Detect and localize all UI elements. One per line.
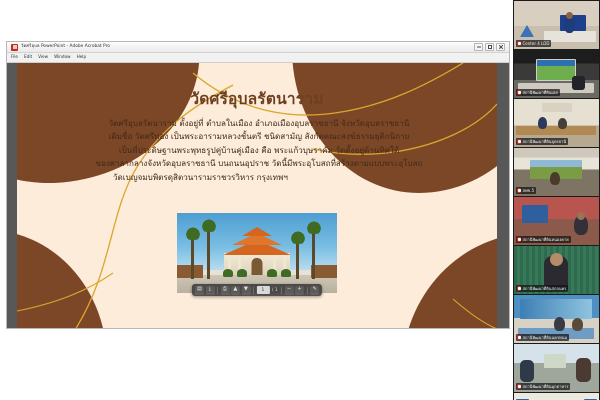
slide-title: วัดศรีอุบลรัตนาราม bbox=[17, 86, 497, 111]
slide-body-text: วัดศรีอุบลรัตนาราม ตั้งอยู่ที่ ตำบลในเมื… bbox=[51, 117, 467, 184]
photo-palm-left-2 bbox=[207, 227, 210, 279]
photo-palm-right bbox=[312, 229, 315, 279]
photo-shrub-1 bbox=[223, 269, 233, 277]
window-controls bbox=[474, 43, 507, 51]
mic-muted-icon bbox=[517, 237, 521, 242]
maximize-button[interactable] bbox=[485, 43, 494, 51]
print-icon[interactable]: ⎙ bbox=[220, 286, 229, 295]
photo-palm-right-2 bbox=[296, 239, 299, 279]
participant-tile[interactable]: สถานีพัฒนาที่ดินเลย bbox=[514, 50, 599, 98]
participant-name-label: Center 4 LDD bbox=[516, 40, 551, 47]
photo-temple-structure bbox=[220, 227, 294, 275]
participant-name-label: สถานีพัฒนาที่ดินสกลนคร bbox=[516, 285, 568, 292]
mic-muted-icon bbox=[517, 90, 521, 95]
mic-muted-icon bbox=[517, 286, 521, 291]
mic-muted-icon bbox=[517, 188, 521, 193]
page-total-label: / 1 bbox=[271, 288, 279, 293]
mic-muted-icon bbox=[517, 41, 521, 46]
minimize-button[interactable] bbox=[474, 43, 483, 51]
highlight-icon[interactable]: ✎ bbox=[310, 286, 319, 295]
menu-bar: File Edit View Window Help bbox=[7, 53, 509, 63]
participant-tile[interactable]: สพข.5 bbox=[514, 148, 599, 196]
slide-line-5: วัดเบญจมบพิตรดุสิตวนารามราชวรวิหาร กรุงเ… bbox=[51, 171, 467, 184]
participant-tile[interactable]: Center 4 LDD bbox=[514, 1, 599, 49]
zoom-in-icon[interactable]: + bbox=[295, 286, 304, 295]
slide-line-1: วัดศรีอุบลรัตนาราม ตั้งอยู่ที่ ตำบลในเมื… bbox=[51, 117, 467, 130]
participant-sidebar[interactable]: Center 4 LDD สถานีพัฒนาที่ดินเลย สถานีพั… bbox=[513, 0, 600, 400]
acrobat-icon bbox=[11, 44, 18, 51]
menu-item-edit[interactable]: Edit bbox=[24, 55, 32, 59]
window-title: วัดศรีอุบล PowerPoint - Adobe Acrobat Pr… bbox=[21, 45, 110, 49]
mic-muted-icon bbox=[517, 139, 521, 144]
photo-shrub-2 bbox=[237, 269, 247, 277]
window-titlebar[interactable]: วัดศรีอุบล PowerPoint - Adobe Acrobat Pr… bbox=[7, 42, 509, 53]
sidebar-toggle-icon[interactable]: ▤ bbox=[195, 286, 204, 295]
participant-name-label: สถานีพัฒนาที่ดินเลย bbox=[516, 89, 560, 96]
pdf-floating-toolbar[interactable]: ▤ ⤓ ⎙ ▲ ▼ 1 / 1 − + ✎ bbox=[192, 284, 322, 296]
screen-root: วัดศรีอุบล PowerPoint - Adobe Acrobat Pr… bbox=[0, 0, 600, 400]
participant-tile[interactable]: สถานีพัฒนาที่ดินหนองคาย bbox=[514, 197, 599, 245]
slide-line-2: เดิมชื่อ วัดศรีทอง เป็นพระอารามหลวงชั้นต… bbox=[51, 130, 467, 143]
participant-name-label: สถานีพัฒนาที่ดินอุดรธานี bbox=[516, 138, 568, 145]
participant-tile[interactable]: สถานีพัฒนาที่ดินมุกดาหาร bbox=[514, 344, 599, 392]
menu-item-view[interactable]: View bbox=[38, 55, 48, 59]
menu-item-help[interactable]: Help bbox=[77, 55, 87, 59]
participant-tile[interactable]: สถานีพัฒนาที่ดินนครพนม bbox=[514, 295, 599, 343]
participant-name-label: สถานีพัฒนาที่ดินนครพนม bbox=[516, 334, 569, 341]
menu-item-window[interactable]: Window bbox=[54, 55, 71, 59]
temple-photo bbox=[177, 213, 337, 293]
photo-building-left bbox=[177, 265, 203, 278]
shared-screen-area: วัดศรีอุบล PowerPoint - Adobe Acrobat Pr… bbox=[0, 0, 513, 400]
participant-tile[interactable]: สถานีพัฒนาที่ดินอุดรธานี bbox=[514, 99, 599, 147]
close-button[interactable] bbox=[496, 43, 505, 51]
acrobat-window: วัดศรีอุบล PowerPoint - Adobe Acrobat Pr… bbox=[6, 41, 510, 329]
page-number-input[interactable]: 1 bbox=[256, 286, 269, 294]
slide-line-3: เป็นที่ประดิษฐานพระพุทธรูปคู่บ้านคู่เมือ… bbox=[51, 144, 467, 157]
slide-line-4: ของศาลากลางจังหวัดอุบลราชธานี บนถนนอุปรา… bbox=[51, 157, 467, 170]
participant-tile[interactable]: สถานีพัฒนาที่ดินสกลนคร bbox=[514, 246, 599, 294]
participant-tile[interactable]: สถานีพัฒนาที่ดินกาฬสินธุ์ bbox=[514, 393, 599, 400]
save-icon[interactable]: ⤓ bbox=[205, 286, 214, 295]
menu-item-file[interactable]: File bbox=[11, 55, 18, 59]
mic-muted-icon bbox=[517, 335, 521, 340]
presentation-slide: วัดศรีอุบลรัตนาราม วัดศรีอุบลรัตนาราม ตั… bbox=[17, 63, 497, 328]
photo-shrub-3 bbox=[281, 269, 291, 277]
participant-name-label: สพข.5 bbox=[516, 187, 536, 194]
participant-name-label: สถานีพัฒนาที่ดินหนองคาย bbox=[516, 236, 571, 243]
photo-shrub-4 bbox=[267, 269, 277, 277]
page-down-icon[interactable]: ▼ bbox=[241, 286, 250, 295]
mic-muted-icon bbox=[517, 384, 521, 389]
document-viewport[interactable]: วัดศรีอุบลรัตนาราม วัดศรีอุบลรัตนาราม ตั… bbox=[7, 63, 509, 328]
participant-name-label: สถานีพัฒนาที่ดินมุกดาหาร bbox=[516, 383, 570, 390]
zoom-out-icon[interactable]: − bbox=[285, 286, 294, 295]
page-up-icon[interactable]: ▲ bbox=[231, 286, 240, 295]
photo-palm-left bbox=[191, 235, 194, 279]
